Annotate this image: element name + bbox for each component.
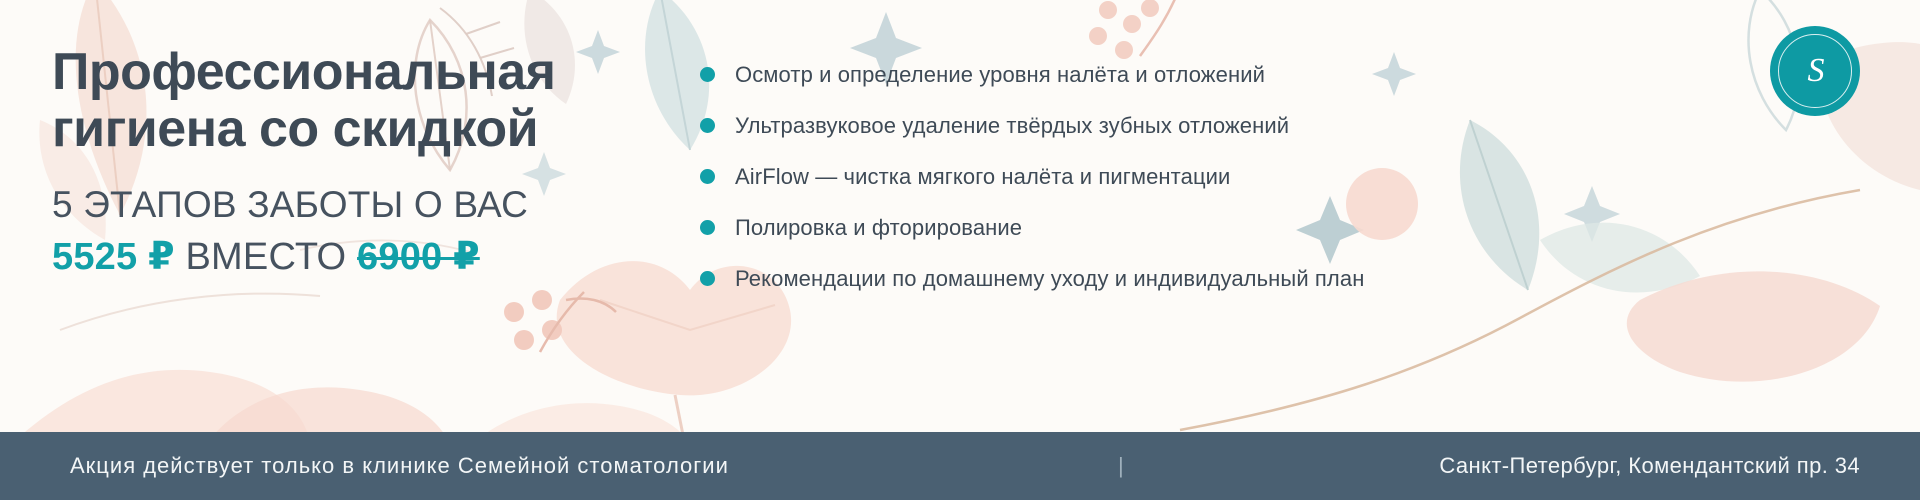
footer-separator: | (1118, 453, 1124, 479)
list-item-label: Рекомендации по домашнему уходу и индиви… (735, 264, 1364, 293)
clinic-logo-badge: S (1770, 26, 1860, 116)
footer-address: Санкт-Петербург, Комендантский пр. 34 (1439, 453, 1860, 479)
price-connector: ВМЕСТО (175, 236, 357, 279)
headline-block: Профессиональная гигиена со скидкой 5 эт… (52, 44, 672, 278)
list-item: AirFlow — чистка мягкого налёта и пигмен… (700, 162, 1840, 191)
logo-ring: S (1778, 34, 1852, 108)
logo-monogram: S (1808, 54, 1823, 88)
promo-banner: Профессиональная гигиена со скидкой 5 эт… (0, 0, 1920, 500)
list-item: Осмотр и определение уровня налёта и отл… (700, 60, 1840, 89)
bullet-dot-icon (700, 67, 715, 82)
bullet-dot-icon (700, 169, 715, 184)
list-item: Рекомендации по домашнему уходу и индиви… (700, 264, 1840, 293)
bullet-dot-icon (700, 118, 715, 133)
page-title: Профессиональная гигиена со скидкой (52, 44, 672, 158)
subheadline: 5 этапов заботы о вас (52, 184, 672, 225)
list-item-label: Полировка и фторирование (735, 213, 1022, 242)
price-new: 5525 ₽ (52, 236, 175, 279)
list-item: Ультразвуковое удаление твёрдых зубных о… (700, 111, 1840, 140)
footer-bar: Акция действует только в клинике Семейно… (0, 432, 1920, 500)
price-row: 5525 ₽ ВМЕСТО 6900 ₽ (52, 236, 672, 279)
list-item: Полировка и фторирование (700, 213, 1840, 242)
list-item-label: Осмотр и определение уровня налёта и отл… (735, 60, 1265, 89)
bullet-dot-icon (700, 271, 715, 286)
footer-promo-note: Акция действует только в клинике Семейно… (70, 453, 729, 479)
list-item-label: Ультразвуковое удаление твёрдых зубных о… (735, 111, 1289, 140)
price-old: 6900 ₽ (357, 236, 480, 279)
bullet-dot-icon (700, 220, 715, 235)
services-list: Осмотр и определение уровня налёта и отл… (700, 60, 1840, 293)
list-item-label: AirFlow — чистка мягкого налёта и пигмен… (735, 162, 1230, 191)
